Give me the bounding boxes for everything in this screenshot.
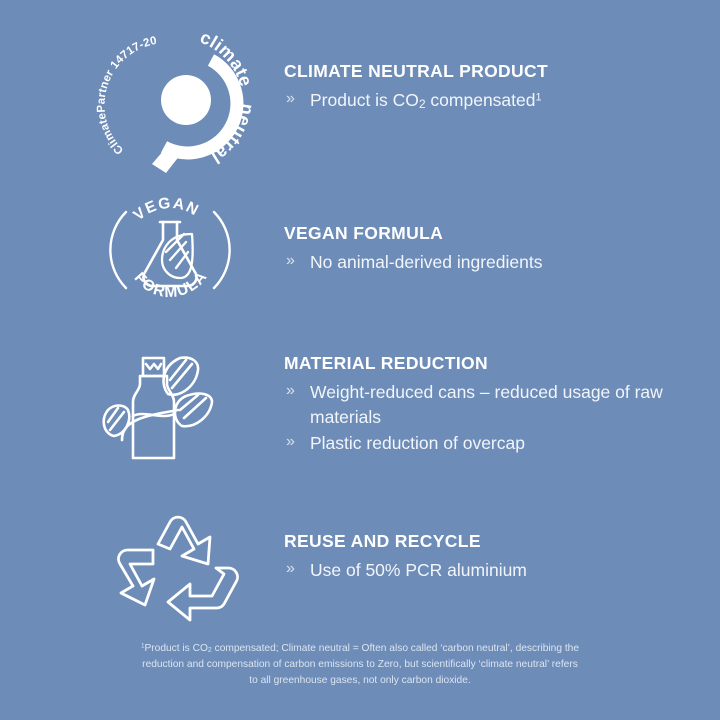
feature-title-vegan-formula: VEGAN FORMULA [284, 224, 694, 243]
guillemet-bullet-icon: » [286, 380, 295, 403]
list-item: » Weight-reduced cans – reduced usage of… [284, 380, 694, 430]
feature-text-climate-neutral: CLIMATE NEUTRAL PRODUCT » Product is CO2… [284, 62, 694, 114]
feature-bullets-reuse-and-recycle: » Use of 50% PCR aluminium [284, 558, 694, 583]
svg-text:FORMULA: FORMULA [131, 268, 211, 301]
list-item: » No animal-derived ingredients [284, 250, 694, 275]
bullet-text: No animal-derived ingredients [310, 252, 542, 272]
feature-text-material-reduction: MATERIAL REDUCTION » Weight-reduced cans… [284, 354, 694, 457]
svg-text:VEGAN: VEGAN [130, 195, 202, 224]
svg-text:ClimatePartner 14717-2005-1001: ClimatePartner 14717-2005-1001 [89, 15, 158, 156]
feature-bullets-vegan-formula: » No animal-derived ingredients [284, 250, 694, 275]
vegan-arc-label: VEGAN [130, 195, 202, 224]
guillemet-bullet-icon: » [286, 431, 295, 454]
list-item: » Product is CO2 compensated1 [284, 88, 694, 113]
sustainability-claims-panel: ClimatePartner 14717-2005-1001 climate n… [0, 0, 720, 720]
feature-text-vegan-formula: VEGAN FORMULA » No animal-derived ingred… [284, 224, 694, 276]
footnote-line-1: 1Product is CO2 compensated; Climate neu… [120, 641, 600, 657]
feature-title-material-reduction: MATERIAL REDUCTION [284, 354, 694, 373]
footnote-line-2: reduction and compensation of carbon emi… [120, 657, 600, 673]
formula-arc-label: FORMULA [131, 268, 211, 301]
feature-bullets-material-reduction: » Weight-reduced cans – reduced usage of… [284, 380, 694, 456]
feature-bullets-climate-neutral: » Product is CO2 compensated1 [284, 88, 694, 113]
recycle-mobius-loop-icon [112, 506, 242, 622]
guillemet-bullet-icon: » [286, 558, 295, 581]
bullet-text: Product is CO2 compensated1 [310, 90, 542, 110]
footnote-disclaimer: 1Product is CO2 compensated; Climate neu… [0, 641, 720, 689]
certificate-id-label: ClimatePartner 14717-2005-1001 [89, 15, 158, 156]
bullet-text: Use of 50% PCR aluminium [310, 560, 527, 580]
guillemet-bullet-icon: » [286, 88, 295, 111]
aerosol-can-with-leaves-icon [100, 336, 245, 476]
feature-text-reuse-and-recycle: REUSE AND RECYCLE » Use of 50% PCR alumi… [284, 532, 694, 584]
list-item: » Use of 50% PCR aluminium [284, 558, 694, 583]
vegan-formula-flask-icon: VEGAN FORMULA [100, 182, 240, 318]
bullet-text: Plastic reduction of overcap [310, 433, 525, 453]
climate-partner-certified-icon: ClimatePartner 14717-2005-1001 climate n… [92, 24, 272, 176]
footnote-line-3: to all greenhouse gases, not only carbon… [120, 673, 600, 689]
feature-title-climate-neutral: CLIMATE NEUTRAL PRODUCT [284, 62, 694, 81]
list-item: » Plastic reduction of overcap [284, 431, 694, 456]
feature-title-reuse-and-recycle: REUSE AND RECYCLE [284, 532, 694, 551]
guillemet-bullet-icon: » [286, 250, 295, 273]
bullet-text: Weight-reduced cans – reduced usage of r… [310, 382, 663, 427]
